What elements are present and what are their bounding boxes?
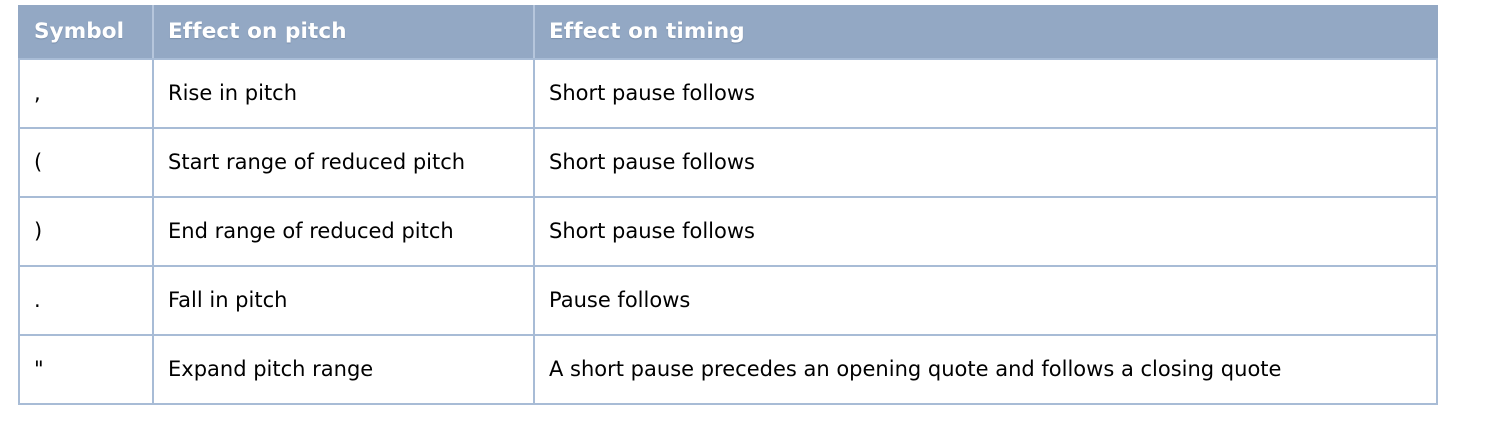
cell-effect-on-timing: Short pause follows: [534, 197, 1437, 266]
cell-symbol: ,: [19, 59, 153, 128]
cell-effect-on-pitch: Rise in pitch: [153, 59, 534, 128]
cell-symbol: ): [19, 197, 153, 266]
table-row: . Fall in pitch Pause follows: [19, 266, 1437, 335]
cell-effect-on-pitch: Expand pitch range: [153, 335, 534, 404]
table-row: " Expand pitch range A short pause prece…: [19, 335, 1437, 404]
table-header-row: Symbol Effect on pitch Effect on timing: [19, 6, 1437, 59]
cell-symbol: (: [19, 128, 153, 197]
column-header-effect-on-pitch: Effect on pitch: [153, 6, 534, 59]
table-row: ( Start range of reduced pitch Short pau…: [19, 128, 1437, 197]
cell-effect-on-timing: Short pause follows: [534, 59, 1437, 128]
table-row: , Rise in pitch Short pause follows: [19, 59, 1437, 128]
cell-effect-on-timing: A short pause precedes an opening quote …: [534, 335, 1437, 404]
cell-effect-on-pitch: End range of reduced pitch: [153, 197, 534, 266]
cell-symbol: ": [19, 335, 153, 404]
punctuation-effects-table: Symbol Effect on pitch Effect on timing …: [18, 5, 1438, 405]
table-body: , Rise in pitch Short pause follows ( St…: [19, 59, 1437, 404]
table-header: Symbol Effect on pitch Effect on timing: [19, 6, 1437, 59]
cell-effect-on-pitch: Start range of reduced pitch: [153, 128, 534, 197]
cell-effect-on-timing: Short pause follows: [534, 128, 1437, 197]
table-row: ) End range of reduced pitch Short pause…: [19, 197, 1437, 266]
cell-effect-on-timing: Pause follows: [534, 266, 1437, 335]
column-header-effect-on-timing: Effect on timing: [534, 6, 1437, 59]
document-page: Symbol Effect on pitch Effect on timing …: [0, 0, 1500, 432]
cell-effect-on-pitch: Fall in pitch: [153, 266, 534, 335]
cell-symbol: .: [19, 266, 153, 335]
column-header-symbol: Symbol: [19, 6, 153, 59]
